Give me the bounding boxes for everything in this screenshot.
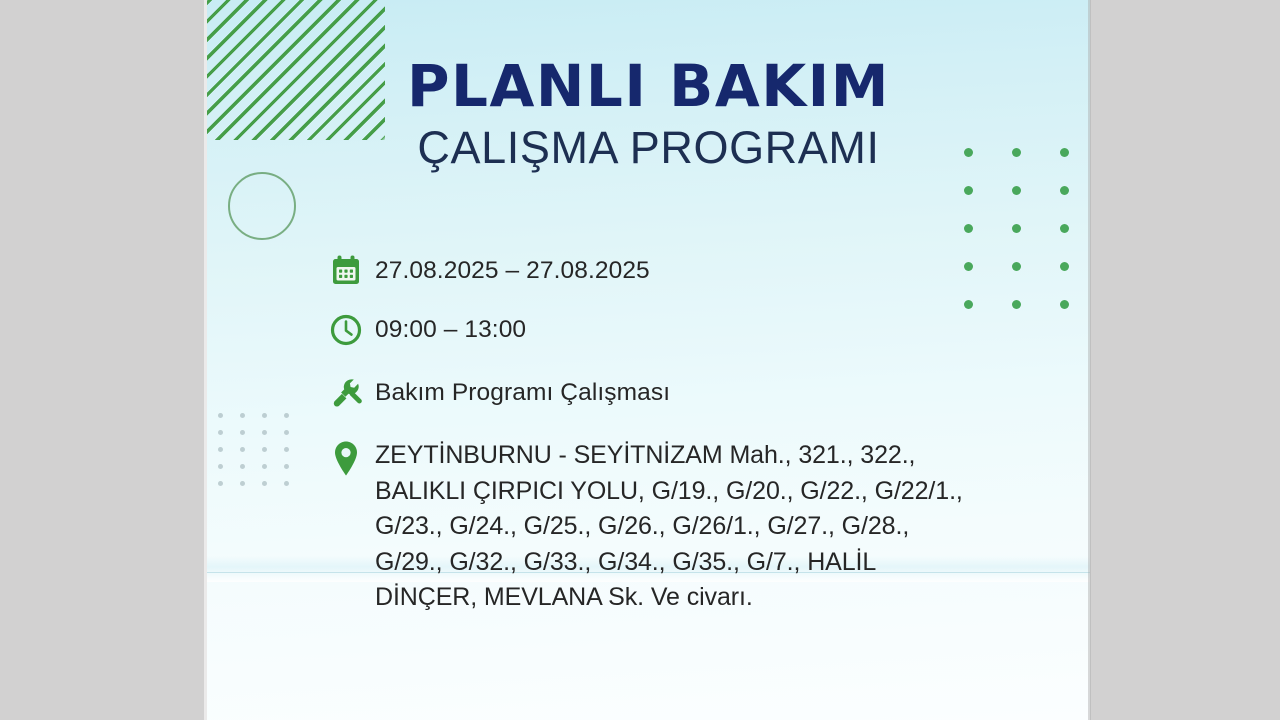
card-edge-right [1088, 0, 1091, 720]
address-line: BALIKLI ÇIRPICI YOLU, G/19., G/20., G/22… [375, 474, 963, 510]
letterbox-bar-left [0, 0, 207, 720]
calendar-icon [329, 252, 375, 290]
work-type-text: Bakım Programı Çalışması [375, 374, 670, 409]
time-range-text: 09:00 – 13:00 [375, 311, 526, 346]
page-title: PLANLI BAKIM [207, 56, 1090, 117]
detail-row-affected-area: ZEYTİNBURNU - SEYİTNİZAM Mah., 321., 322… [329, 435, 1029, 616]
date-range-text: 27.08.2025 – 27.08.2025 [375, 252, 650, 287]
address-line: DİNÇER, MEVLANA Sk. Ve civarı. [375, 580, 963, 616]
announcement-card: PLANLI BAKIM ÇALIŞMA PROGRAMI [207, 0, 1090, 720]
dot-grid-left-decoration [218, 413, 306, 498]
address-line: ZEYTİNBURNU - SEYİTNİZAM Mah., 321., 322… [375, 438, 963, 474]
affected-area-text: ZEYTİNBURNU - SEYİTNİZAM Mah., 321., 322… [375, 435, 963, 616]
tools-icon [329, 374, 375, 412]
page-subtitle: ÇALIŞMA PROGRAMI [207, 123, 1090, 173]
detail-row-time: 09:00 – 13:00 [329, 311, 1029, 349]
detail-row-date: 27.08.2025 – 27.08.2025 [329, 252, 1029, 290]
clock-icon [329, 311, 375, 349]
address-line: G/23., G/24., G/25., G/26., G/26/1., G/2… [375, 509, 963, 545]
details-list: 27.08.2025 – 27.08.2025 09:00 – 13:00 [329, 252, 1029, 616]
circle-outline-decoration [228, 172, 296, 240]
address-line: G/29., G/32., G/33., G/34., G/35., G/7.,… [375, 545, 963, 581]
detail-row-work-type: Bakım Programı Çalışması [329, 374, 1029, 412]
letterbox-bar-right [1090, 0, 1280, 720]
location-pin-icon [329, 435, 375, 473]
card-edge-left [204, 0, 207, 720]
poster-heading: PLANLI BAKIM ÇALIŞMA PROGRAMI [207, 56, 1090, 173]
